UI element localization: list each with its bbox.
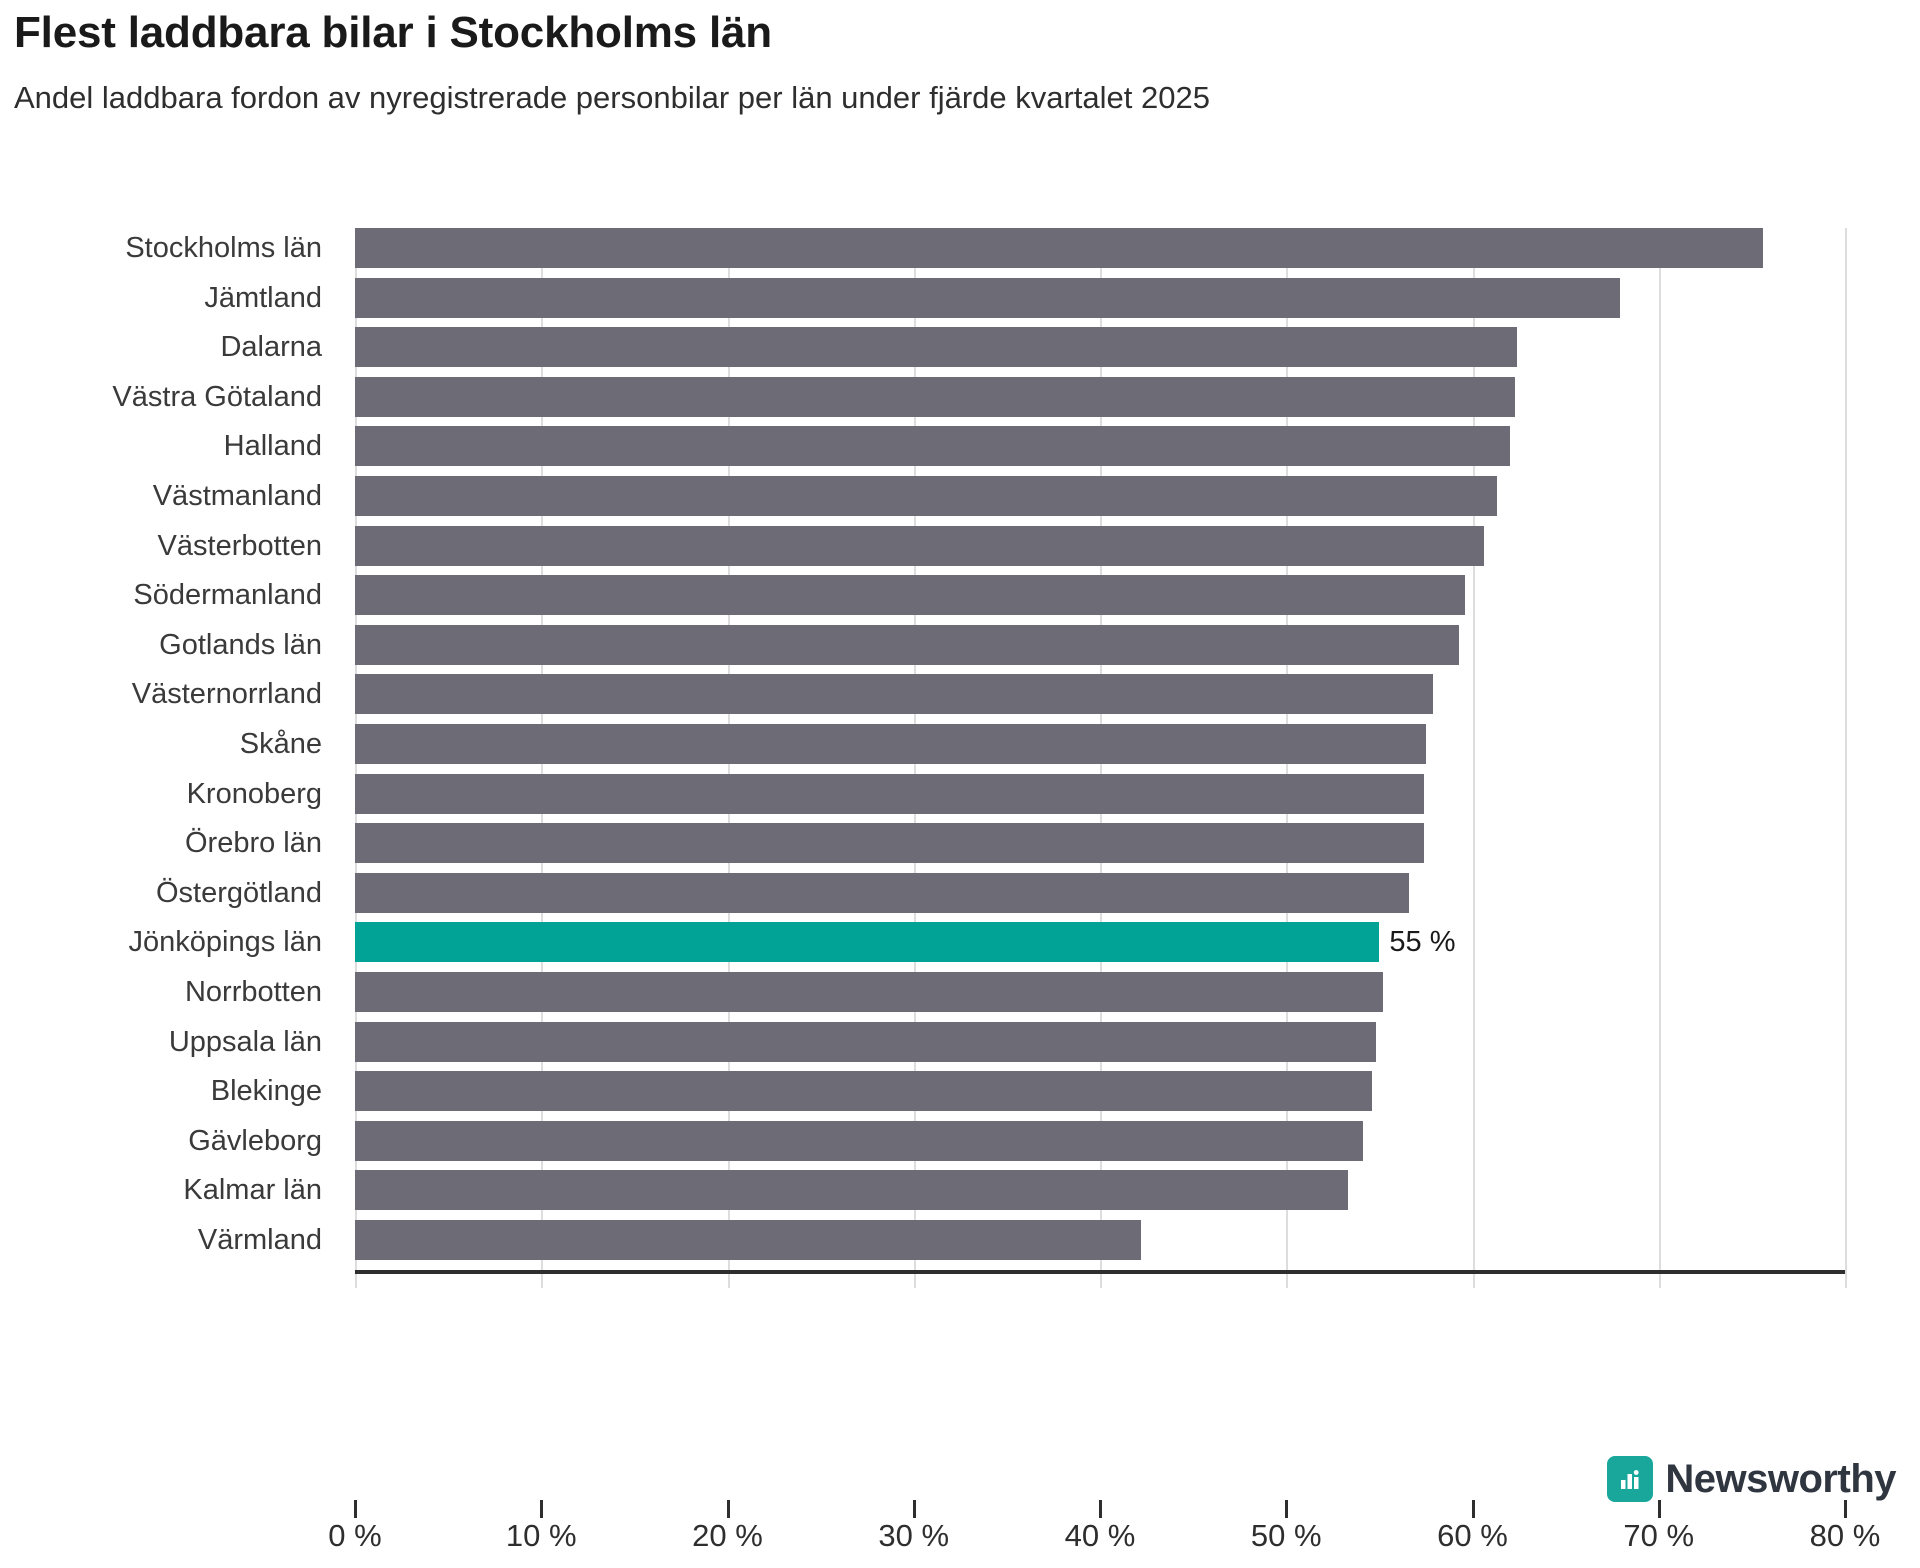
x-tick-label: 30 % bbox=[878, 1518, 949, 1554]
x-tick-mark bbox=[1285, 1500, 1288, 1518]
bar bbox=[355, 823, 1424, 863]
bar bbox=[355, 625, 1459, 665]
y-axis-label: Jämtland bbox=[0, 278, 322, 318]
bar bbox=[355, 526, 1484, 566]
y-axis-label: Stockholms län bbox=[0, 228, 322, 268]
bar bbox=[355, 1220, 1141, 1260]
x-tick-mark bbox=[913, 1500, 916, 1518]
x-tick-mark bbox=[540, 1500, 543, 1518]
x-tick-mark bbox=[1658, 1500, 1661, 1518]
bar bbox=[355, 1170, 1348, 1210]
newsworthy-logo: Newsworthy bbox=[1607, 1456, 1896, 1502]
x-tick-mark bbox=[1099, 1500, 1102, 1518]
bar bbox=[355, 1121, 1363, 1161]
y-axis-label: Västmanland bbox=[0, 476, 322, 516]
bar bbox=[355, 228, 1763, 268]
x-tick-label: 40 % bbox=[1065, 1518, 1136, 1554]
bar bbox=[355, 278, 1620, 318]
x-tick-label: 80 % bbox=[1810, 1518, 1881, 1554]
bar bbox=[355, 476, 1497, 516]
bar bbox=[355, 377, 1515, 417]
y-axis-label: Dalarna bbox=[0, 327, 322, 367]
y-axis-label: Norrbotten bbox=[0, 972, 322, 1012]
y-axis-label: Skåne bbox=[0, 724, 322, 764]
x-tick-mark bbox=[354, 1500, 357, 1518]
y-axis-label: Halland bbox=[0, 426, 322, 466]
x-tick-label: 10 % bbox=[506, 1518, 577, 1554]
y-axis-label: Västernorrland bbox=[0, 674, 322, 714]
x-tick-label: 20 % bbox=[692, 1518, 763, 1554]
bar bbox=[355, 873, 1409, 913]
chart-header: Flest laddbara bilar i Stockholms län An… bbox=[14, 8, 1910, 116]
y-axis-label: Västerbotten bbox=[0, 526, 322, 566]
page-title: Flest laddbara bilar i Stockholms län bbox=[14, 8, 1910, 59]
bar bbox=[355, 972, 1383, 1012]
y-axis-label: Västra Götaland bbox=[0, 377, 322, 417]
x-tick-mark bbox=[1472, 1500, 1475, 1518]
x-tick-label: 50 % bbox=[1251, 1518, 1322, 1554]
x-axis-tick-labels: 0 %10 %20 %30 %40 %50 %60 %70 %80 % bbox=[355, 1518, 1845, 1568]
x-tick-label: 60 % bbox=[1437, 1518, 1508, 1554]
bar bbox=[355, 327, 1517, 367]
y-axis-label: Gävleborg bbox=[0, 1121, 322, 1161]
x-tick-mark bbox=[1844, 1500, 1847, 1518]
chart-plot-area: Stockholms länJämtlandDalarnaVästra Göta… bbox=[0, 228, 1920, 1288]
y-axis-label: Blekinge bbox=[0, 1071, 322, 1111]
bar bbox=[355, 674, 1433, 714]
gridline bbox=[1845, 228, 1847, 1288]
x-tick-mark bbox=[727, 1500, 730, 1518]
bar-value-label: 55 % bbox=[1379, 922, 1455, 962]
bar bbox=[355, 724, 1426, 764]
bar-series: 55 % bbox=[355, 228, 1845, 1270]
y-axis-label: Kalmar län bbox=[0, 1170, 322, 1210]
y-axis-category-labels: Stockholms länJämtlandDalarnaVästra Göta… bbox=[0, 228, 340, 1270]
x-axis-line bbox=[355, 1270, 1845, 1274]
y-axis-label: Uppsala län bbox=[0, 1022, 322, 1062]
y-axis-label: Kronoberg bbox=[0, 774, 322, 814]
bar bbox=[355, 1071, 1372, 1111]
bar bbox=[355, 426, 1510, 466]
bar bbox=[355, 774, 1424, 814]
x-tick-label: 70 % bbox=[1623, 1518, 1694, 1554]
bar-chart-icon bbox=[1607, 1456, 1653, 1502]
logo-wordmark: Newsworthy bbox=[1665, 1457, 1896, 1502]
y-axis-label: Gotlands län bbox=[0, 625, 322, 665]
chart-subtitle: Andel laddbara fordon av nyregistrerade … bbox=[14, 79, 1910, 116]
chart-page: Flest laddbara bilar i Stockholms län An… bbox=[0, 0, 1920, 1520]
x-tick-label: 0 % bbox=[328, 1518, 381, 1554]
y-axis-label: Örebro län bbox=[0, 823, 322, 863]
y-axis-label: Värmland bbox=[0, 1220, 322, 1260]
y-axis-label: Östergötland bbox=[0, 873, 322, 913]
bar bbox=[355, 575, 1465, 615]
bar-highlighted bbox=[355, 922, 1379, 962]
bar bbox=[355, 1022, 1376, 1062]
y-axis-label: Jönköpings län bbox=[0, 922, 322, 962]
y-axis-label: Södermanland bbox=[0, 575, 322, 615]
